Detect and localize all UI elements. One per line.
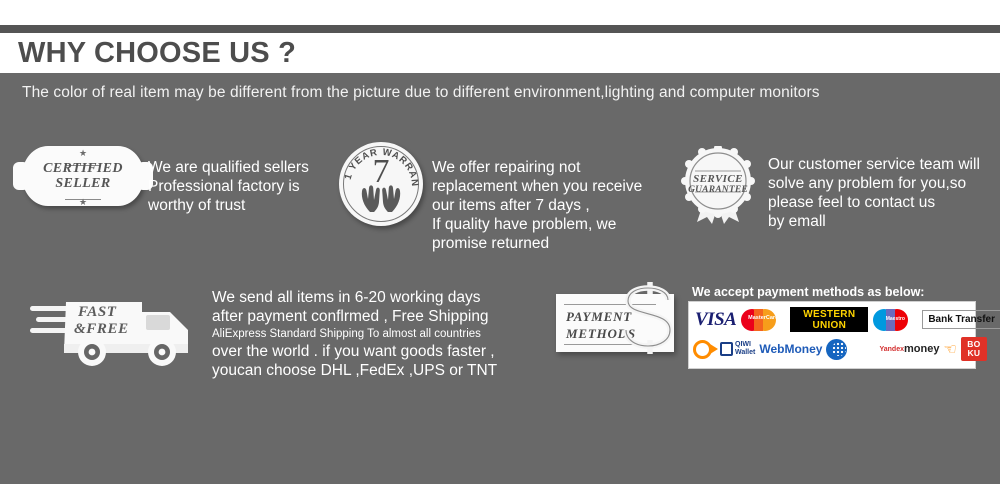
page-title: WHY CHOOSE US ? bbox=[18, 33, 296, 73]
feature-text-warranty: We offer repairing not replacement when … bbox=[432, 158, 642, 253]
badge-star-top: ★ bbox=[22, 149, 144, 157]
delivery-truck-icon: FAST &FREE bbox=[30, 286, 205, 372]
header-rule-bar bbox=[0, 25, 1000, 33]
western-union-icon: WESTERN UNION bbox=[790, 307, 868, 332]
barcode-payment-icon bbox=[851, 339, 875, 359]
guarantee-label: GUARANTEE bbox=[679, 185, 757, 196]
service-guarantee-badge-icon: SERVICE GUARANTEE bbox=[679, 146, 757, 224]
wu-line2: UNION bbox=[812, 320, 846, 331]
shipping-text-block: We send all items in 6-20 working days a… bbox=[212, 288, 497, 380]
feature-line: Professional factory is bbox=[148, 177, 309, 196]
feature-line: please feel to contact us bbox=[768, 193, 980, 212]
certified-seller-badge-icon: ★ CERTIFIED SELLER ★ bbox=[22, 146, 144, 206]
feature-line: We offer repairing not bbox=[432, 158, 642, 177]
shipping-line: youcan choose DHL ,FedEx ,UPS or TNT bbox=[212, 361, 497, 380]
shipping-line-small: AliExpress Standard Shipping To almost a… bbox=[212, 326, 497, 342]
feature-text-qualified-sellers: We are qualified sellers Professional fa… bbox=[148, 158, 309, 215]
body-background bbox=[0, 73, 1000, 484]
payment-logos-row-1: VISA MasterCard WESTERN UNION Maestro Ba… bbox=[693, 305, 971, 334]
certified-label: CERTIFIED bbox=[22, 161, 144, 176]
bank-transfer-icon: Bank Transfer bbox=[922, 310, 1000, 329]
qiwi-line1: QIWI bbox=[735, 341, 755, 349]
pointing-hand-icon: ☜ bbox=[943, 342, 956, 357]
feature-line: by emall bbox=[768, 212, 980, 231]
feature-line: If quality have problem, we bbox=[432, 215, 642, 234]
feature-line: We are qualified sellers bbox=[148, 158, 309, 177]
maestro-icon: Maestro bbox=[873, 309, 917, 331]
yandex-line2: money bbox=[904, 345, 939, 354]
warranty-badge-icon: 1 YEAR WARRANTY 7 bbox=[339, 142, 423, 226]
feature-line: solve any problem for you,so bbox=[768, 174, 980, 193]
badge-flourish-bottom bbox=[22, 191, 144, 195]
seller-label: SELLER bbox=[22, 176, 144, 191]
wu-line1: WESTERN bbox=[803, 309, 855, 320]
shipping-line: We send all items in 6-20 working days bbox=[212, 288, 497, 307]
webmoney-icon: WebMoney bbox=[759, 342, 822, 356]
service-label: SERVICE bbox=[679, 173, 757, 185]
globe-payment-icon bbox=[826, 339, 847, 360]
feature-line: replacement when you receive bbox=[432, 177, 642, 196]
promo-banner: WHY CHOOSE US ? The color of real item m… bbox=[0, 0, 1000, 484]
shipping-line: over the world . if you want goods faste… bbox=[212, 342, 497, 361]
hands-icon bbox=[339, 184, 423, 217]
truck-label-free: &FREE bbox=[74, 321, 129, 338]
yandex-money-icon: Yandex money bbox=[879, 345, 939, 354]
feature-text-customer-service: Our customer service team will solve any… bbox=[768, 155, 980, 231]
badge-star-bottom: ★ bbox=[22, 198, 144, 206]
shipping-line: after payment conflrmed , Free Shipping bbox=[212, 307, 497, 326]
feature-line: worthy of trust bbox=[148, 196, 309, 215]
payment-logos-panel: VISA MasterCard WESTERN UNION Maestro Ba… bbox=[688, 301, 976, 369]
payment-panel-title: We accept payment methods as below: bbox=[692, 285, 924, 299]
maestro-label: Maestro bbox=[878, 316, 912, 322]
visa-icon: VISA bbox=[693, 309, 736, 331]
disclaimer-text: The color of real item may be different … bbox=[22, 84, 982, 102]
mastercard-icon: MasterCard bbox=[741, 309, 785, 331]
mastercard-label: MasterCard bbox=[746, 315, 780, 321]
dollar-sign-icon bbox=[610, 282, 692, 368]
yandex-line1: Yandex bbox=[879, 345, 904, 354]
qiwi-line2: Wallet bbox=[735, 349, 755, 357]
payment-logos-row-2: QIWI Wallet WebMoney Yandex money ☜ BO K… bbox=[693, 334, 971, 364]
boku-icon: BO KU bbox=[961, 337, 987, 361]
truck-label-fast: FAST bbox=[78, 304, 117, 321]
feature-line: Our customer service team will bbox=[768, 155, 980, 174]
feature-line: promise returned bbox=[432, 234, 642, 253]
feature-line: our items after 7 days , bbox=[432, 196, 642, 215]
top-white-strip bbox=[0, 0, 1000, 25]
boku-line2: KU bbox=[967, 349, 980, 358]
qiwi-wallet-icon: QIWI Wallet bbox=[693, 340, 755, 359]
